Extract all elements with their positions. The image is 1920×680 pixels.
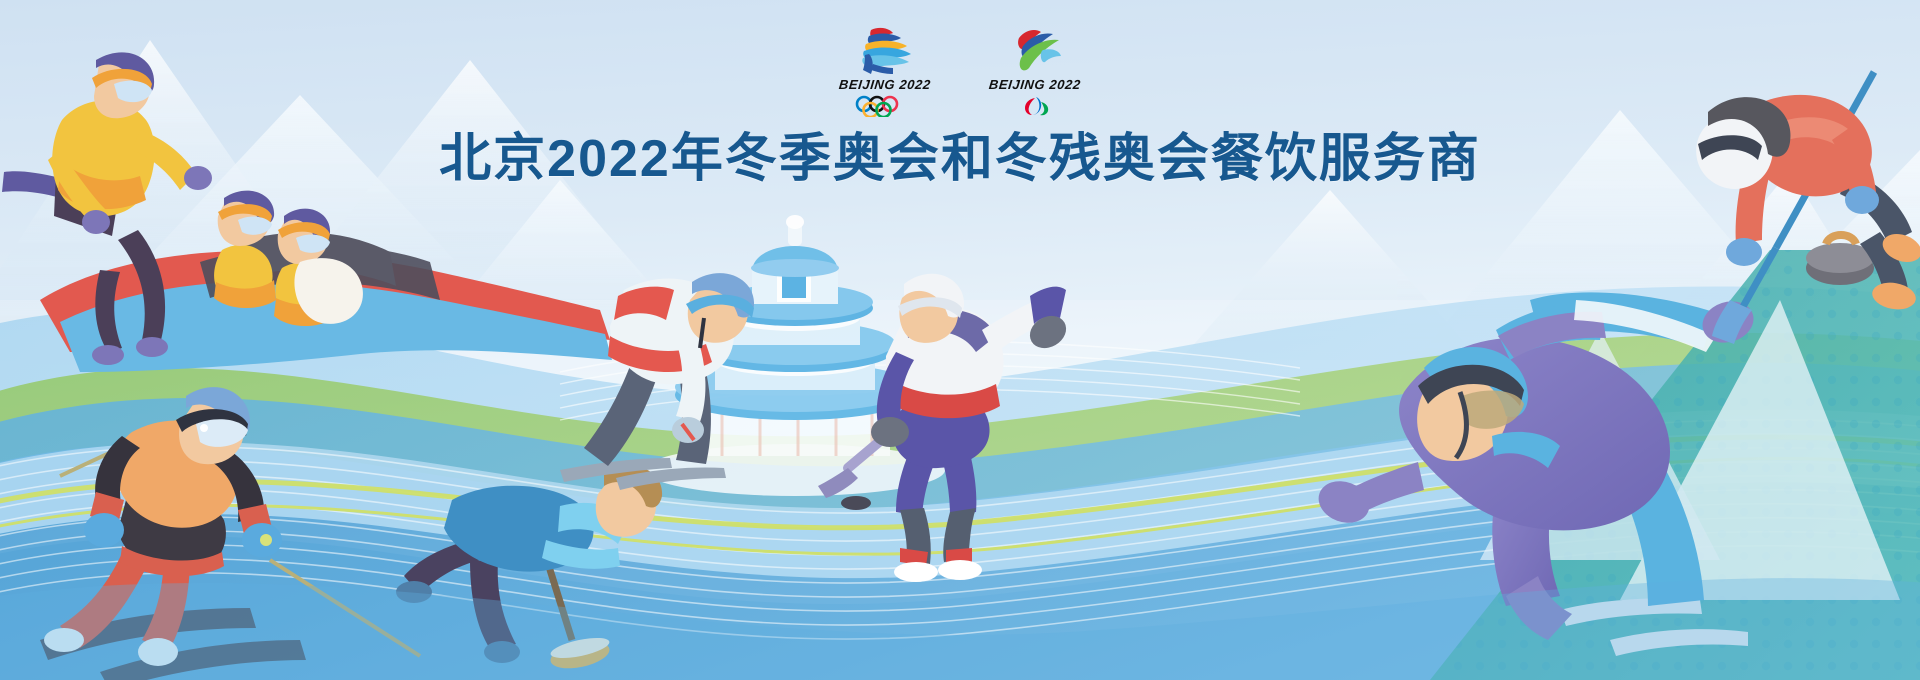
olympic-wordmark: BEIJING 2022 [838, 77, 931, 92]
paralympic-emblem: BEIJING 2022 [989, 24, 1081, 117]
paralympic-wordmark: BEIJING 2022 [988, 77, 1081, 92]
beijing-2022-paralympic-mark [999, 24, 1071, 76]
olympic-rings-icon [852, 95, 918, 117]
banner-title: 北京2022年冬季奥会和冬残奥会餐饮服务商 [0, 116, 1920, 191]
emblem-row: BEIJING 2022 BEIJING 2022 [0, 24, 1920, 117]
beijing-2022-olympic-mark [849, 24, 921, 76]
olympic-banner: BEIJING 2022 BEIJING 2022 [0, 0, 1920, 680]
olympic-emblem: BEIJING 2022 [839, 24, 931, 117]
agitos-icon [1002, 95, 1068, 117]
